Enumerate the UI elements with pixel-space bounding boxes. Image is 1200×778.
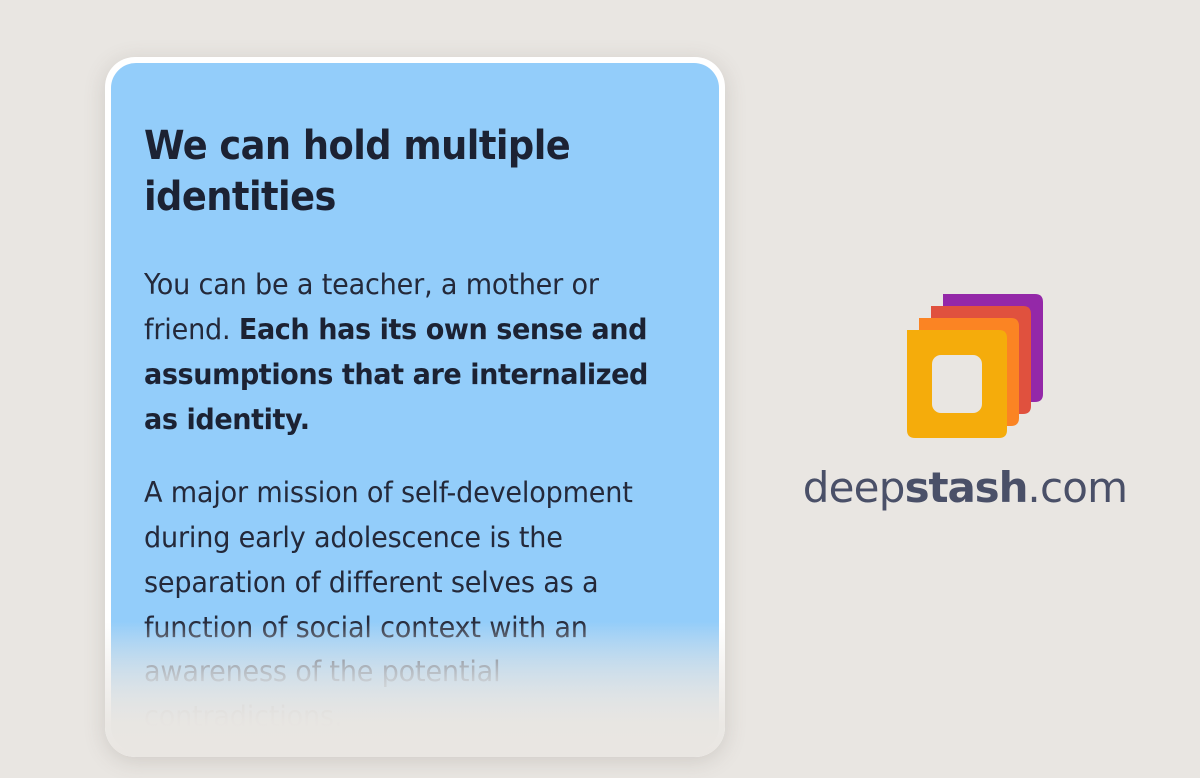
card-title: We can hold multiple identities — [144, 121, 576, 223]
card-paragraph-1: You can be a teacher, a mother or friend… — [144, 263, 658, 443]
card-paragraph-2: A major mission of self-development duri… — [144, 471, 658, 740]
wordmark-prefix: deep — [803, 463, 905, 512]
logo-front-cutout — [932, 355, 982, 413]
deepstash-logo-icon — [885, 290, 1045, 440]
insight-card[interactable]: We can hold multiple identities You can … — [105, 57, 725, 757]
brand-block: deepstash.com — [760, 290, 1170, 509]
brand-wordmark: deepstash.com — [760, 467, 1170, 509]
wordmark-suffix: .com — [1027, 463, 1127, 512]
wordmark-emphasis: stash — [905, 463, 1028, 512]
insight-card-surface: We can hold multiple identities You can … — [111, 63, 719, 751]
page-root: We can hold multiple identities You can … — [0, 0, 1200, 778]
